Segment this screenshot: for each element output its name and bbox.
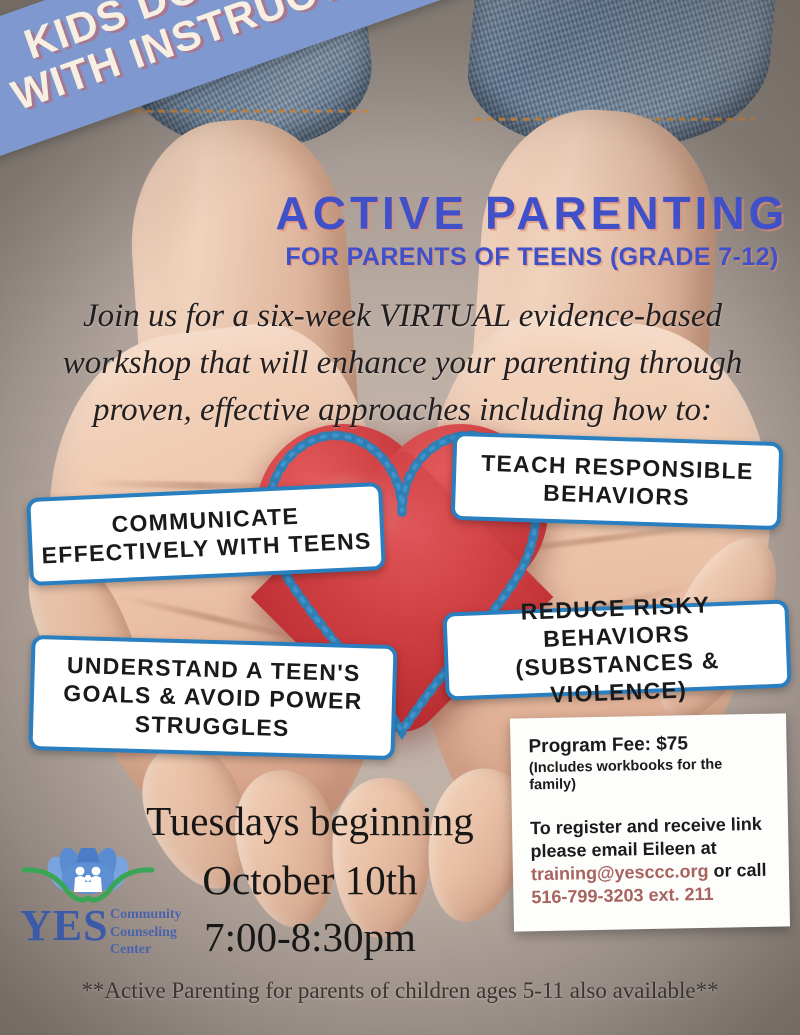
callout-communicate: COMMUNICATE EFFECTIVELY WITH TEENS <box>26 482 386 586</box>
page-title-block: ACTIVE PARENTING FOR PARENTS OF TEENS (G… <box>272 190 792 272</box>
page-title: ACTIVE PARENTING <box>272 190 792 236</box>
logo-acronym: YES <box>20 904 109 948</box>
callout-teach-responsible: TEACH RESPONSIBLE BEHAVIORS <box>451 432 784 530</box>
callout-understand-goals: UNDERSTAND A TEEN'S GOALS & AVOID POWER … <box>28 635 397 760</box>
intro-line-1: Join us for a six-week VIRTUAL evidence-… <box>30 293 775 340</box>
page-subtitle: FOR PARENTS OF TEENS (GRADE 7-12) <box>272 242 792 272</box>
registration-instructions: To register and receive link please emai… <box>530 812 774 909</box>
or-call-text: or call <box>708 859 766 880</box>
registration-info-card: Program Fee: $75 (Includes workbooks for… <box>510 713 790 931</box>
register-line-1: To register and receive link <box>530 812 772 840</box>
logo-word-center: Center <box>110 941 182 959</box>
schedule-day: Tuesdays beginning <box>110 800 510 843</box>
yes-logo: YES Community Counseling Center <box>18 848 198 953</box>
intro-paragraph: Join us for a six-week VIRTUAL evidence-… <box>30 293 775 434</box>
program-fee: Program Fee: $75 <box>528 732 770 758</box>
email-link[interactable]: training@yesccc.org <box>531 861 709 884</box>
program-fee-note: (Includes workbooks for the family) <box>529 756 772 795</box>
logo-word-community: Community <box>110 906 182 924</box>
logo-wordmark: Community Counseling Center <box>110 906 182 959</box>
logo-word-counseling: Counseling <box>110 924 182 942</box>
callout-reduce-risky: REDUCE RISKY BEHAVIORS (SUBSTANCES & VIO… <box>442 599 791 700</box>
intro-line-3: proven, effective approaches including h… <box>30 387 775 434</box>
intro-line-2: workshop that will enhance your parentin… <box>30 340 775 387</box>
footer-note: **Active Parenting for parents of childr… <box>0 978 800 1004</box>
phone-number[interactable]: 516-799-3203 ext. 211 <box>531 881 773 909</box>
flyer-canvas: KIDS DON'T COME WITH INSTRUCTIONS ACTIVE… <box>0 0 800 1035</box>
